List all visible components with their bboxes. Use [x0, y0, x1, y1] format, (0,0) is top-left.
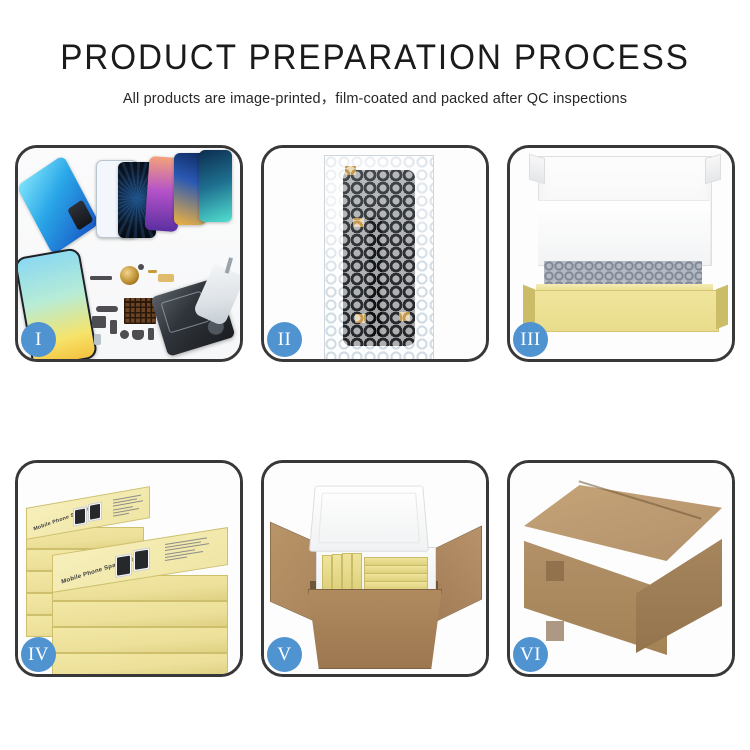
bubble-wrap-bag [324, 155, 434, 359]
page-header: PRODUCT PREPARATION PROCESS All products… [0, 0, 750, 108]
process-step-3[interactable]: III [507, 145, 735, 362]
packed-boxes-inside [320, 551, 430, 591]
process-step-1[interactable]: I [15, 145, 243, 362]
process-step-5[interactable]: V [261, 460, 489, 677]
box-stack: Mobile Phone Spare Parts Mobile Phone Sp… [24, 479, 236, 667]
styrofoam-lid [309, 486, 429, 552]
process-step-6[interactable]: VI [507, 460, 735, 677]
foam-sheet [538, 200, 710, 265]
page-subtitle: All products are image-printed，film-coat… [0, 87, 750, 108]
carton-tape-patch [546, 561, 564, 581]
speaker-coil-part [120, 266, 139, 285]
phone-blue-back-cover [18, 155, 100, 255]
step-badge-4: IV [21, 637, 56, 672]
sealed-carton [524, 485, 722, 657]
process-step-grid: I II III [15, 145, 735, 677]
carton-tape-patch [546, 621, 564, 641]
step-badge-3: III [513, 322, 548, 357]
step-badge-6: VI [513, 637, 548, 672]
step-badge-2: II [267, 322, 302, 357]
page-title: PRODUCT PREPARATION PROCESS [19, 40, 732, 77]
process-step-4[interactable]: Mobile Phone Spare Parts Mobile Phone Sp… [15, 460, 243, 677]
yellow-box-front [532, 290, 719, 332]
carton-body [308, 589, 442, 669]
bubble-texture-overlay [325, 156, 433, 359]
carton-top-face [524, 485, 722, 561]
phone-teal-gradient [199, 150, 232, 222]
step-badge-1: I [21, 322, 56, 357]
step-badge-5: V [267, 637, 302, 672]
process-step-2[interactable]: II [261, 145, 489, 362]
